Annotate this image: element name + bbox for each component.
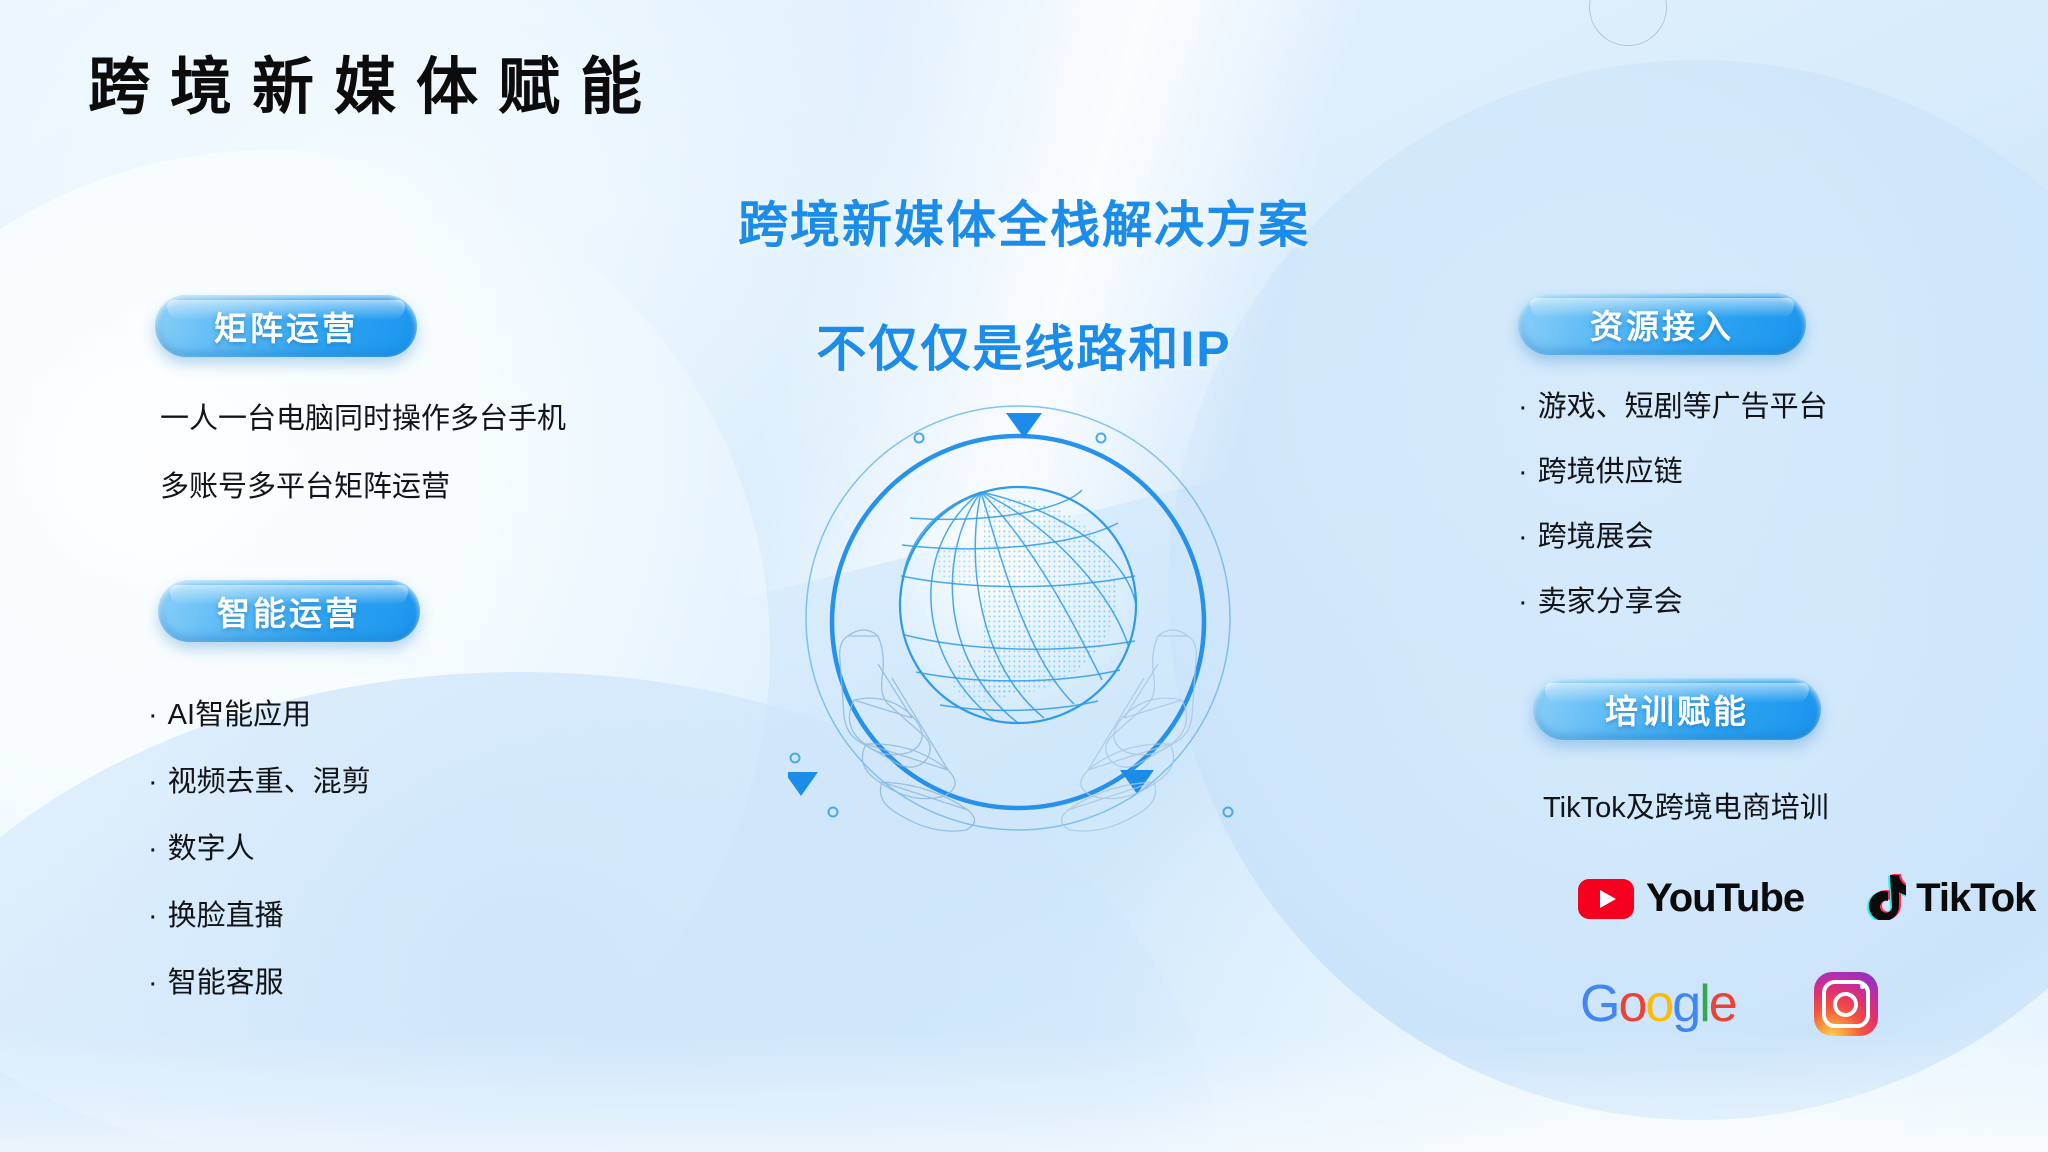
list-item-label: 卖家分享会 — [1538, 586, 1683, 618]
ring-outline-icon — [1589, 0, 1667, 46]
list-item: ·AI智能应用 — [148, 700, 311, 732]
list-item-label: 跨境供应链 — [1538, 456, 1683, 488]
bullet-dot-icon: · — [148, 766, 158, 798]
pill-label: 矩阵运营 — [214, 302, 358, 350]
globe-svg — [788, 400, 1248, 860]
bullet-dot-icon: · — [148, 699, 158, 731]
google-letter-l: l — [1699, 975, 1709, 1033]
pill-matrix-operations[interactable]: 矩阵运营 — [155, 295, 417, 357]
list-item: ·卖家分享会 — [1518, 587, 1683, 619]
tiktok-logo[interactable]: TikTok — [1862, 872, 2035, 925]
bullet-dot-icon: · — [1518, 456, 1528, 488]
list-item: ·数字人 — [148, 834, 255, 866]
google-letter-o2: o — [1645, 975, 1672, 1033]
triangle-marker-left — [788, 772, 818, 796]
list-item-label: 跨境展会 — [1538, 521, 1654, 553]
slide-canvas: 跨境新媒体赋能 跨境新媒体全栈解决方案 不仅仅是线路和IP 矩阵运营 一人一台电… — [0, 0, 2048, 1152]
pill-smart-operations[interactable]: 智能运营 — [158, 580, 420, 642]
youtube-logo[interactable]: YouTube — [1578, 876, 1804, 921]
bullet-dot-icon: · — [1518, 586, 1528, 618]
page-title: 跨境新媒体赋能 — [88, 36, 662, 126]
list-item: ·智能客服 — [148, 968, 284, 1000]
list-item-label: 游戏、短剧等广告平台 — [1538, 391, 1828, 423]
google-logo[interactable]: Google — [1580, 974, 1736, 1034]
google-letter-o1: o — [1618, 975, 1645, 1033]
training-description: TikTok及跨境电商培训 — [1543, 793, 1829, 825]
list-item: ·换脸直播 — [148, 901, 284, 933]
bullet-dot-icon: · — [148, 900, 158, 932]
pill-label: 培训赋能 — [1605, 685, 1749, 733]
list-item-label: 一人一台电脑同时操作多台手机 — [160, 403, 566, 435]
pill-training-enablement[interactable]: 培训赋能 — [1533, 678, 1821, 740]
list-item: ·跨境供应链 — [1518, 457, 1683, 489]
list-item-label: 多账号多平台矩阵运营 — [160, 471, 450, 503]
globe-illustration — [788, 400, 1248, 860]
google-letter-g2: g — [1672, 975, 1699, 1033]
tiktok-note-icon — [1862, 872, 1906, 925]
tiktok-label: TikTok — [1916, 876, 2035, 921]
bullet-dot-icon: · — [1518, 521, 1528, 553]
logo-row-bottom: Google — [1580, 972, 1878, 1036]
bullet-dot-icon: · — [1518, 391, 1528, 423]
headline: 跨境新媒体全栈解决方案 — [0, 185, 2048, 257]
list-item-label: AI智能应用 — [168, 699, 311, 731]
background-bottom-fade — [0, 1032, 2048, 1152]
bullet-dot-icon: · — [148, 833, 158, 865]
youtube-play-icon — [1578, 879, 1634, 919]
list-item-label: 视频去重、混剪 — [168, 766, 371, 798]
list-item-label: 数字人 — [168, 833, 255, 865]
pill-label: 智能运营 — [217, 587, 361, 635]
pill-resource-access[interactable]: 资源接入 — [1518, 293, 1806, 355]
youtube-label: YouTube — [1646, 876, 1804, 921]
list-item-label: 智能客服 — [168, 967, 284, 999]
logo-row-top: YouTube TikTok — [1578, 872, 2035, 925]
training-description-label: TikTok及跨境电商培训 — [1543, 792, 1829, 824]
instagram-logo[interactable] — [1814, 972, 1878, 1036]
list-item: 一人一台电脑同时操作多台手机 — [160, 404, 566, 436]
list-item: ·跨境展会 — [1518, 522, 1654, 554]
list-item-label: 换脸直播 — [168, 900, 284, 932]
google-letter-e: e — [1709, 975, 1736, 1033]
list-item: ·视频去重、混剪 — [148, 767, 371, 799]
google-letter-g1: G — [1580, 975, 1618, 1033]
list-item: 多账号多平台矩阵运营 — [160, 472, 450, 504]
bullet-dot-icon: · — [148, 967, 158, 999]
pill-label: 资源接入 — [1590, 300, 1734, 348]
list-item: ·游戏、短剧等广告平台 — [1518, 392, 1828, 424]
instagram-camera-icon — [1822, 980, 1870, 1028]
